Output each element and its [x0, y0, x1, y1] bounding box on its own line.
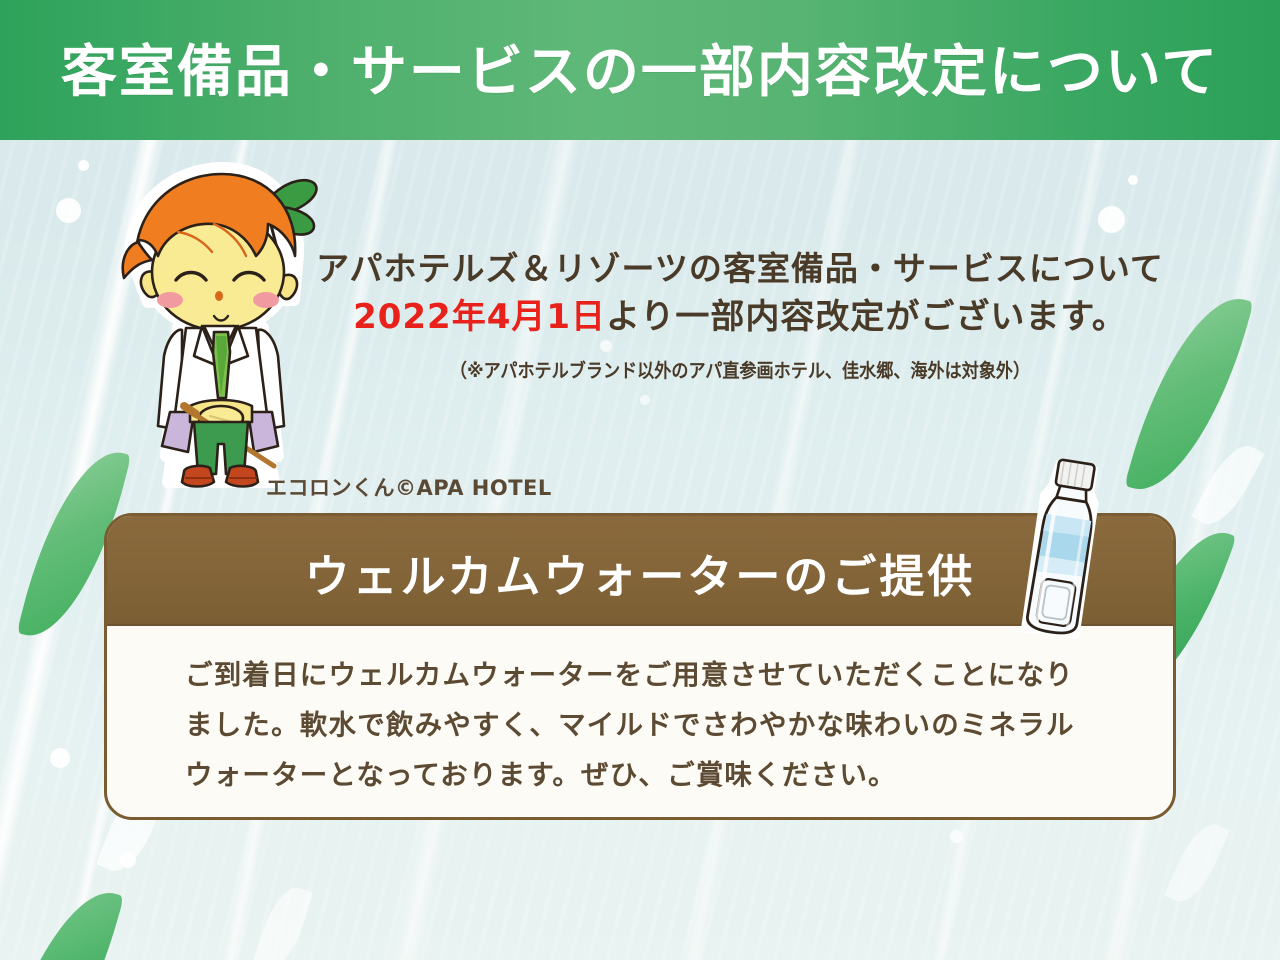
bubble-4 — [1098, 206, 1125, 233]
bubble-2 — [56, 198, 81, 223]
water-bottle-icon — [1008, 455, 1118, 650]
intro-line-2: 2022年4月1日より一部内容改定がございます。 — [290, 296, 1190, 340]
header-banner: 客室備品・サービスの一部内容改定について — [0, 0, 1280, 140]
card-body: ご到着日にウェルカムウォーターをご用意させていただくことになり ました。軟水で飲… — [107, 626, 1173, 800]
bubble-6 — [640, 395, 650, 405]
effective-date: 2022年4月1日 — [353, 297, 606, 337]
bubble-3 — [1128, 175, 1138, 185]
card-body-line-1: ご到着日にウェルカムウォーターをご用意させていただくことになり — [185, 650, 1127, 700]
intro-line-2-rest: より一部内容改定がございます。 — [606, 297, 1127, 337]
mascot-caption: エコロンくん©APA HOTEL — [266, 472, 552, 502]
card-body-line-2: ました。軟水で飲みやすく、マイルドでさわやかな味わいのミネラル — [185, 700, 1127, 750]
intro-text-block: アパホテルズ＆リゾーツの客室備品・サービスについて 2022年4月1日より一部内… — [290, 248, 1190, 383]
bubble-7 — [50, 748, 70, 768]
bubble-1 — [78, 160, 89, 171]
page-title: 客室備品・サービスの一部内容改定について — [61, 45, 1219, 101]
intro-line-1: アパホテルズ＆リゾーツの客室備品・サービスについて — [290, 248, 1190, 290]
bubble-9 — [950, 830, 963, 843]
card-header-title: ウェルカムウォーターのご提供 — [305, 540, 976, 605]
card-body-line-3: ウォーターとなっております。ぜひ、ご賞味ください。 — [185, 750, 1127, 800]
page-root: 客室備品・サービスの一部内容改定について — [0, 0, 1280, 960]
intro-note: （※アパホテルブランド以外のアパ直参画ホテル、佳水郷、海外は対象外） — [335, 356, 1145, 383]
